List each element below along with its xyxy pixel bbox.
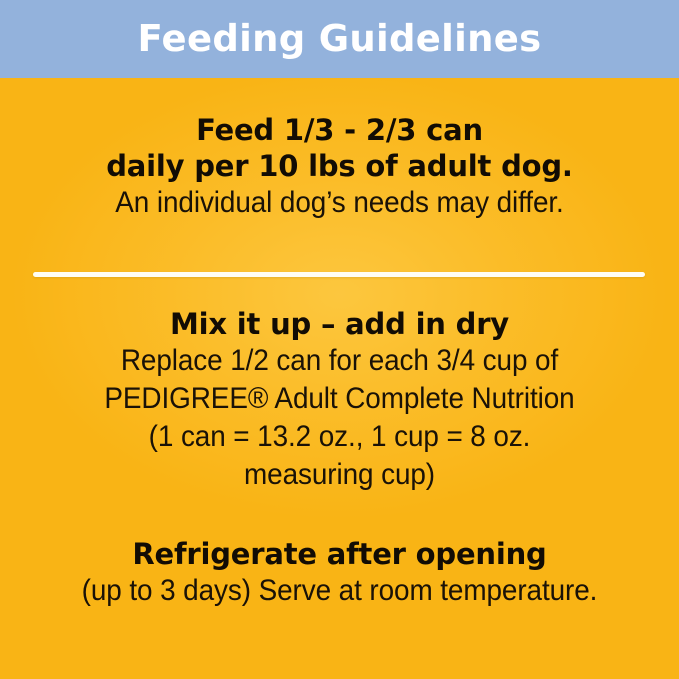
daily-amount-note: An individual dog’s needs may differ.	[24, 184, 655, 222]
section-mix-it-up: Mix it up – add in dry Replace 1/2 can f…	[0, 306, 679, 494]
mix-line-3-conversion: (1 can = 13.2 oz., 1 cup = 8 oz.	[24, 418, 655, 456]
daily-amount-line-1: Feed 1/3 - 2/3 can	[0, 112, 679, 148]
mix-line-2-product: PEDIGREE® Adult Complete Nutrition	[24, 380, 655, 418]
guidelines-content: Feed 1/3 - 2/3 can daily per 10 lbs of a…	[0, 78, 679, 679]
refrigerate-note: (up to 3 days) Serve at room temperature…	[24, 572, 655, 610]
feeding-guidelines-panel: Feeding Guidelines Feed 1/3 - 2/3 can da…	[0, 0, 679, 679]
mix-line-4-conversion-cont: measuring cup)	[24, 456, 655, 494]
mix-line-1: Replace 1/2 can for each 3/4 cup of	[24, 342, 655, 380]
section-refrigerate: Refrigerate after opening (up to 3 days)…	[0, 536, 679, 610]
mix-heading: Mix it up – add in dry	[0, 306, 679, 342]
daily-amount-line-2: daily per 10 lbs of adult dog.	[0, 148, 679, 184]
page-title: Feeding Guidelines	[137, 20, 541, 59]
section-divider	[33, 272, 645, 277]
section-daily-amount: Feed 1/3 - 2/3 can daily per 10 lbs of a…	[0, 112, 679, 222]
refrigerate-heading: Refrigerate after opening	[0, 536, 679, 572]
header-band: Feeding Guidelines	[0, 0, 679, 78]
